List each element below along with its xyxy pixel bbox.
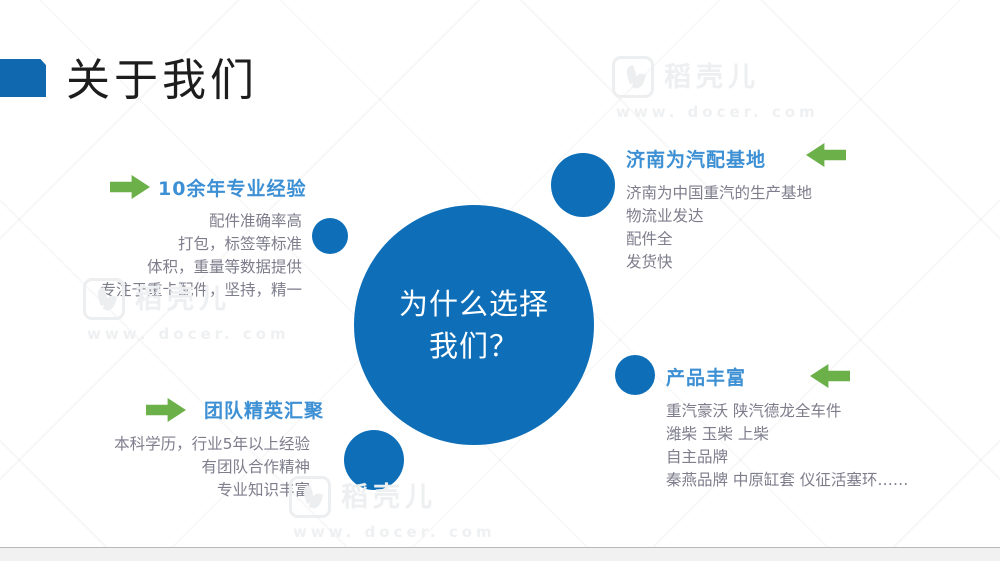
feature-line: 配件全 [626, 228, 956, 251]
page-title: 关于我们 [66, 44, 258, 108]
feature-heading-team: 团队精英汇聚 [204, 396, 340, 423]
feature-block-products: 产品丰富 重汽豪沃 陕汽德龙全车件 潍柴 玉柴 上柴 自主品牌 秦燕品牌 中原缸… [666, 363, 996, 492]
feature-body-team: 本科学历，行业5年以上经验 有团队合作精神 专业知识丰富 [0, 433, 340, 502]
feature-heading-base: 济南为汽配基地 [626, 145, 956, 172]
feature-body-experience: 配件准确率高 打包，标签等标准 体积，重量等数据提供 专注于重卡配件，坚持，精一 [0, 210, 312, 302]
feature-line: 本科学历，行业5年以上经验 [0, 433, 310, 456]
decor-circle-top-right [551, 153, 615, 217]
feature-line: 济南为中国重汽的生产基地 [626, 182, 956, 205]
title-accent-shape [0, 59, 46, 97]
feature-line: 专注于重卡配件，坚持，精一 [0, 279, 302, 302]
docer-leaf-logo-icon [612, 56, 654, 98]
watermark-url: www. docer. com [293, 523, 496, 541]
feature-line: 打包，标签等标准 [0, 233, 302, 256]
decor-circle-bottom-left [344, 430, 404, 490]
slide-canvas: 关于我们 为什么选择我们？ 10余年专业经验 配件准确率高 打包，标签等标准 体… [0, 0, 1000, 561]
watermark-url: www. docer. com [616, 103, 819, 121]
watermark-row: 稻壳儿 [612, 56, 819, 98]
feature-block-base: 济南为汽配基地 济南为中国重汽的生产基地 物流业发达 配件全 发货快 [626, 145, 956, 274]
feature-line: 有团队合作精神 [0, 456, 310, 479]
bottom-tray [0, 548, 1000, 561]
feature-block-experience: 10余年专业经验 配件准确率高 打包，标签等标准 体积，重量等数据提供 专注于重… [0, 174, 312, 302]
feature-line: 秦燕品牌 中原缸套 仪征活塞环…… [666, 469, 996, 492]
feature-line: 配件准确率高 [0, 210, 302, 233]
feature-body-base: 济南为中国重汽的生产基地 物流业发达 配件全 发货快 [626, 182, 956, 274]
center-circle: 为什么选择我们？ [354, 205, 594, 445]
feature-line: 物流业发达 [626, 205, 956, 228]
watermark: 稻壳儿 www. docer. com [612, 56, 819, 121]
feature-line: 自主品牌 [666, 446, 996, 469]
feature-block-team: 团队精英汇聚 本科学历，行业5年以上经验 有团队合作精神 专业知识丰富 [0, 396, 340, 502]
decor-circle-bottom-right [615, 355, 655, 395]
watermark-brand: 稻壳儿 [341, 484, 437, 511]
feature-line: 专业知识丰富 [0, 479, 310, 502]
feature-line: 发货快 [626, 251, 956, 274]
feature-line: 体积，重量等数据提供 [0, 256, 302, 279]
feature-line: 重汽豪沃 陕汽德龙全车件 [666, 400, 996, 423]
feature-heading-experience: 10余年专业经验 [158, 174, 312, 201]
feature-heading-products: 产品丰富 [666, 363, 996, 390]
center-circle-label: 为什么选择我们？ [399, 283, 549, 367]
feature-line: 潍柴 玉柴 上柴 [666, 423, 996, 446]
feature-body-products: 重汽豪沃 陕汽德龙全车件 潍柴 玉柴 上柴 自主品牌 秦燕品牌 中原缸套 仪征活… [666, 400, 996, 492]
decor-circle-top-left [312, 218, 348, 254]
watermark-url: www. docer. com [87, 325, 290, 343]
watermark-brand: 稻壳儿 [664, 64, 760, 91]
